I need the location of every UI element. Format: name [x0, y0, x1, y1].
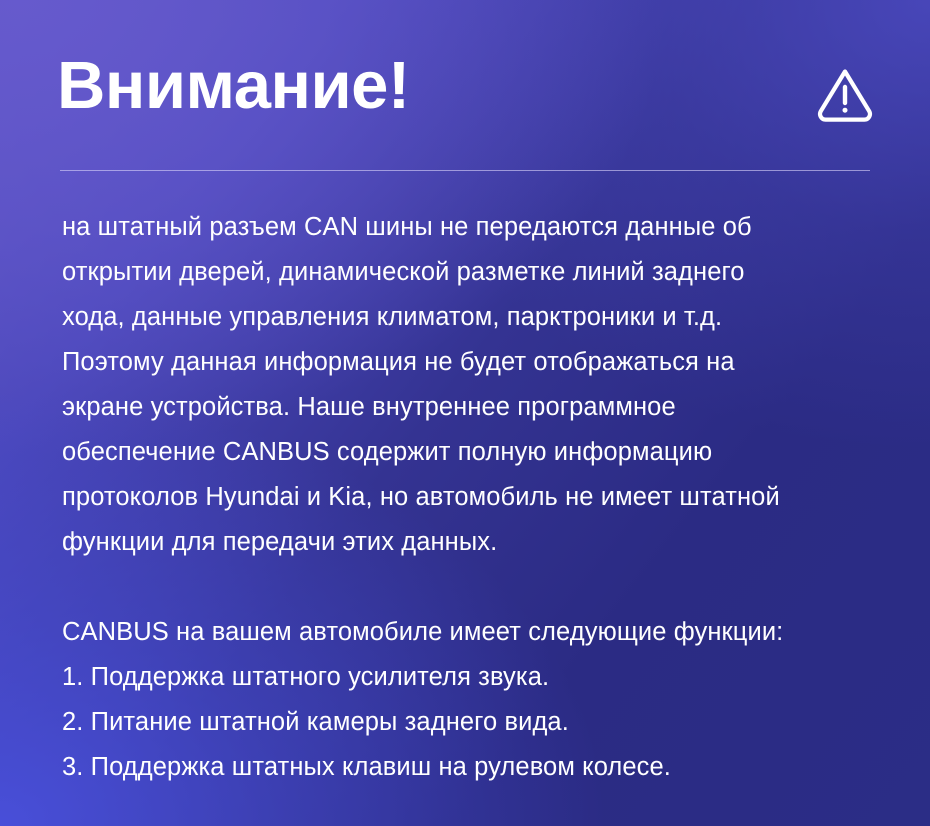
notice-line: открытии дверей, динамической разметке л…	[62, 250, 878, 295]
banner-header: Внимание!	[0, 0, 930, 170]
list-item: 1. Поддержка штатного усилителя звука.	[62, 655, 878, 700]
notice-paragraph: на штатный разъем CAN шины не передаются…	[62, 205, 878, 565]
features-list: 1. Поддержка штатного усилителя звука. 2…	[62, 655, 878, 790]
notice-line: экране устройства. Наше внутреннее прогр…	[62, 385, 878, 430]
warning-triangle-icon	[816, 64, 874, 122]
notice-line: Поэтому данная информация не будет отобр…	[62, 340, 878, 385]
features-section: CANBUS на вашем автомобиле имеет следующ…	[62, 610, 878, 790]
notice-line: на штатный разъем CAN шины не передаются…	[62, 205, 878, 250]
notice-line: функции для передачи этих данных.	[62, 520, 878, 565]
notice-line: обеспечение CANBUS содержит полную инфор…	[62, 430, 878, 475]
banner-content: на штатный разъем CAN шины не передаются…	[62, 205, 878, 790]
features-intro: CANBUS на вашем автомобиле имеет следующ…	[62, 610, 878, 655]
list-item: 3. Поддержка штатных клавиш на рулевом к…	[62, 745, 878, 790]
list-item: 2. Питание штатной камеры заднего вида.	[62, 700, 878, 745]
page-title: Внимание!	[57, 52, 410, 119]
warning-banner: Внимание! на штатный разъем CAN шины не …	[0, 0, 930, 826]
notice-line: протоколов Hyundai и Kia, но автомобиль …	[62, 475, 878, 520]
notice-line: хода, данные управления климатом, парктр…	[62, 295, 878, 340]
header-divider	[60, 170, 870, 171]
